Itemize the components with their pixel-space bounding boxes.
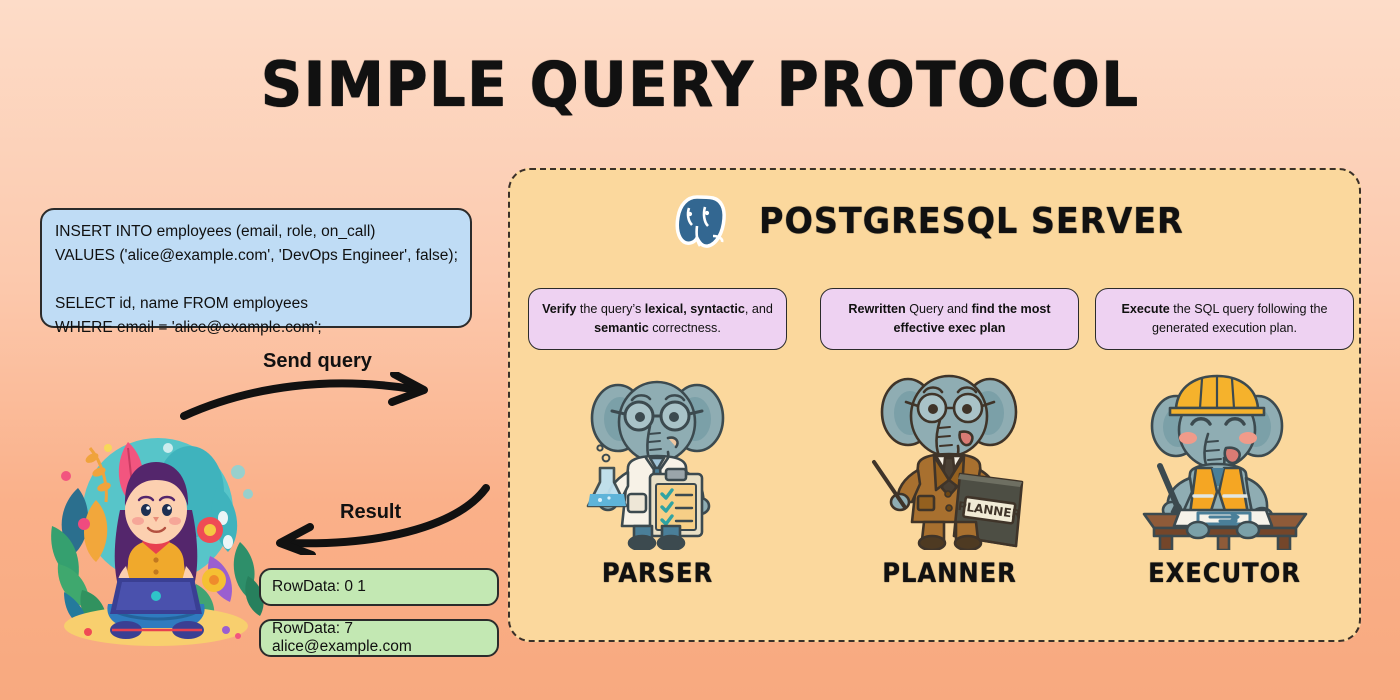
stage-description-text: Rewritten Query and find the most effect… xyxy=(830,300,1069,338)
stage-description-text: Execute the SQL query following the gene… xyxy=(1105,300,1344,338)
send-query-label: Send query xyxy=(263,350,372,373)
stage-name: EXECUTOR xyxy=(1108,558,1341,589)
stage-parser: Verify the query’s lexical, syntactic, a… xyxy=(528,288,787,589)
sql-query-box: INSERT INTO employees (email, role, on_c… xyxy=(40,208,472,328)
result-row: RowData: 7 alice@example.com xyxy=(259,619,499,657)
stage-name: PARSER xyxy=(541,558,774,589)
stage-description: Execute the SQL query following the gene… xyxy=(1095,288,1354,350)
elephant-worker-icon xyxy=(1136,374,1314,550)
stage-figure: PLANNER xyxy=(820,372,1079,550)
server-header: POSTGRESQL SERVER xyxy=(510,192,1363,250)
server-title: POSTGRESQL SERVER xyxy=(759,201,1184,242)
stage-description-text: Verify the query’s lexical, syntactic, a… xyxy=(538,300,777,338)
result-row: RowData: 0 1 xyxy=(259,568,499,606)
stage-description: Rewritten Query and find the most effect… xyxy=(820,288,1079,350)
stage-executor: Execute the SQL query following the gene… xyxy=(1095,288,1354,589)
elephant-teacher-icon: PLANNER xyxy=(864,370,1036,550)
result-arrow-icon xyxy=(270,483,495,555)
stage-figure xyxy=(528,372,787,550)
girl-with-laptop-illustration xyxy=(42,414,270,650)
postgresql-server-panel: POSTGRESQL SERVER Verify the query’s lex… xyxy=(508,168,1361,642)
postgresql-elephant-logo-icon xyxy=(673,192,729,250)
stage-description: Verify the query’s lexical, syntactic, a… xyxy=(528,288,787,350)
elephant-scientist-icon xyxy=(576,374,739,550)
page-title: SIMPLE QUERY PROTOCOL xyxy=(56,48,1344,121)
stage-planner: Rewritten Query and find the most effect… xyxy=(820,288,1079,589)
stage-figure xyxy=(1095,372,1354,550)
stage-name: PLANNER xyxy=(833,558,1066,589)
